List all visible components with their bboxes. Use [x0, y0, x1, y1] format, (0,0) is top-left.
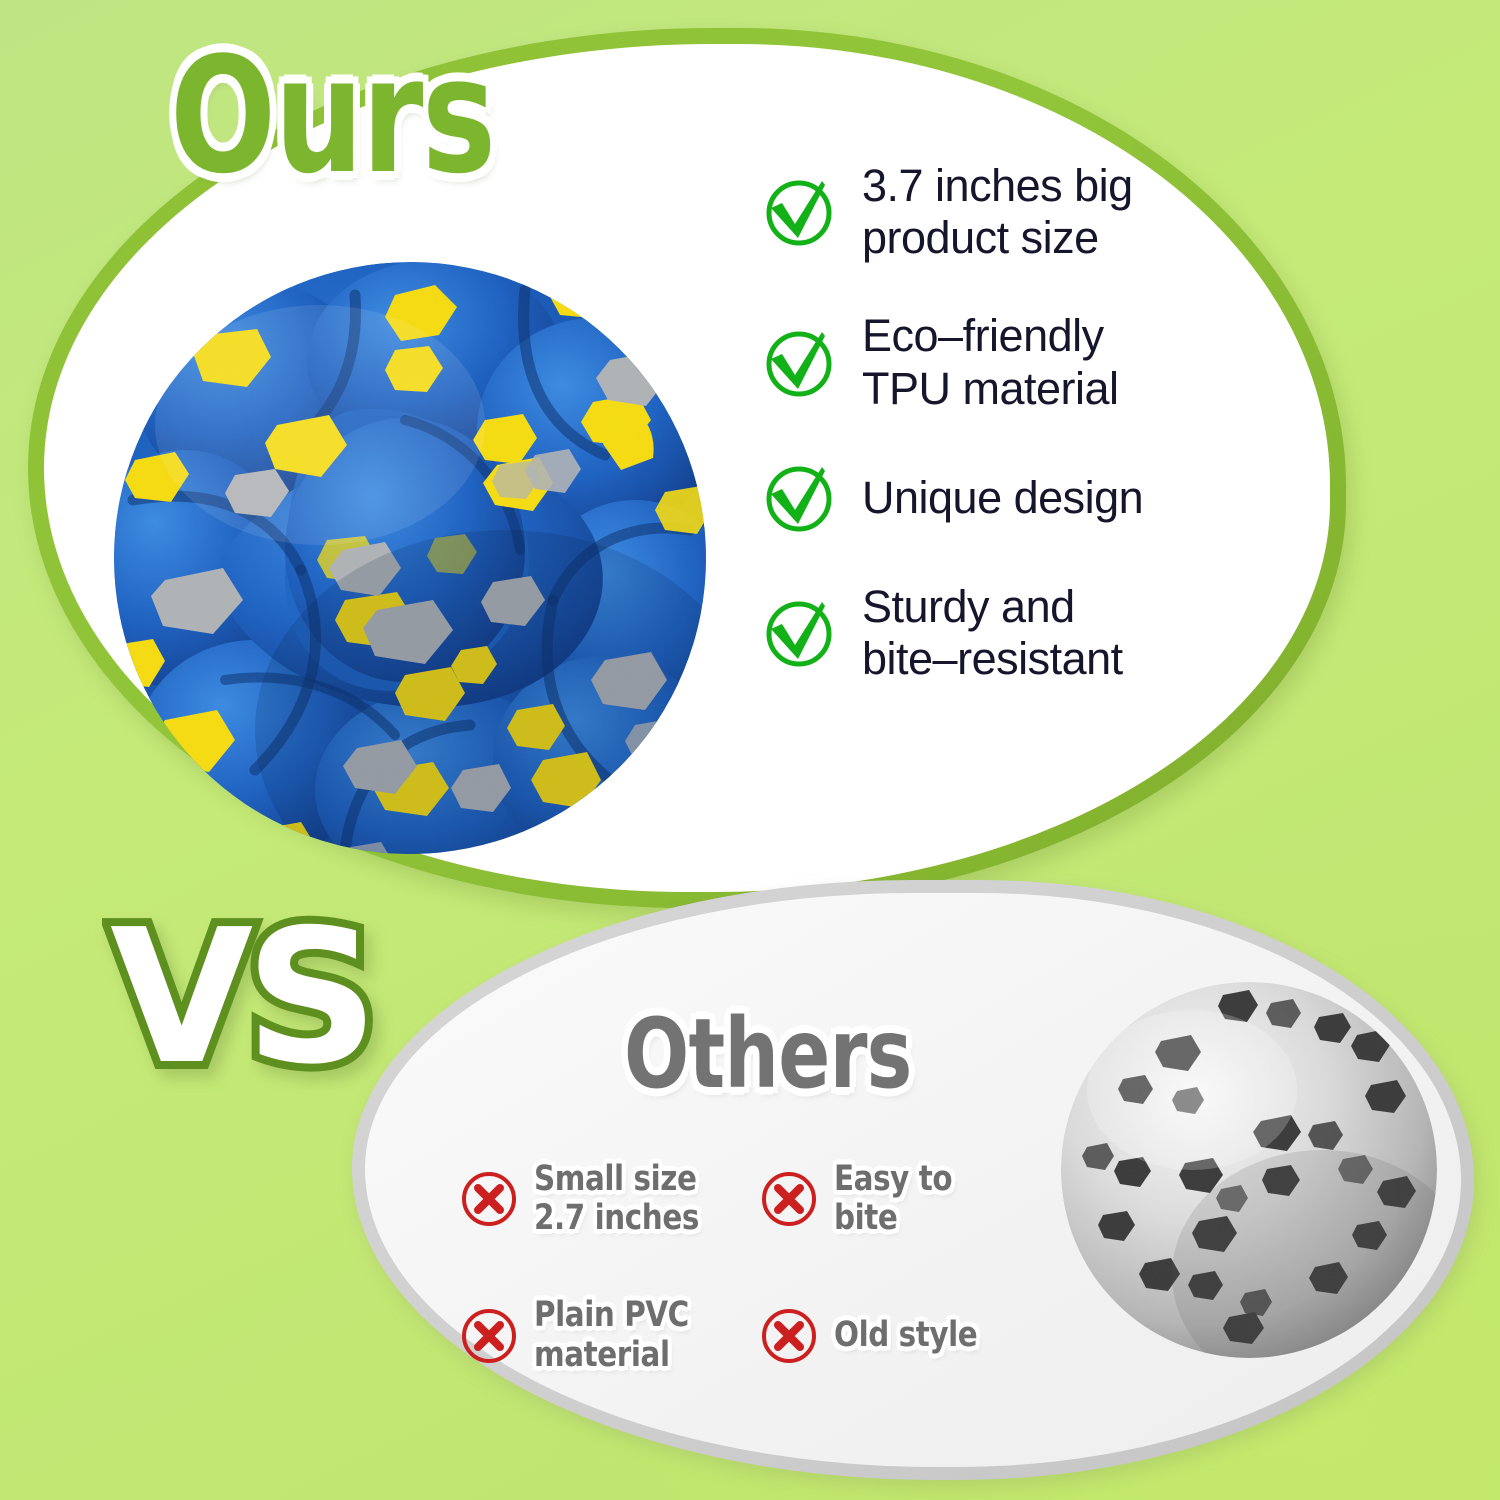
check-circle-icon	[762, 596, 836, 670]
feature-label: Eco–friendly TPU material	[862, 310, 1119, 414]
con-label: Easy to bite	[834, 1160, 1024, 1238]
comparison-infographic: Ours	[0, 0, 1500, 1500]
ours-title: Ours	[170, 36, 495, 196]
others-con-list: Small size 2.7 inches Easy to bite Plain…	[460, 1160, 1060, 1375]
vs-label: VS	[110, 905, 370, 1090]
cross-circle-icon	[760, 1307, 818, 1365]
con-label: Plain PVC material	[534, 1296, 689, 1374]
check-circle-icon	[762, 326, 836, 400]
con-item: Easy to bite	[760, 1160, 1060, 1238]
others-panel: Others Small size 2.7 inches Easy to bit…	[352, 880, 1474, 1480]
ours-feature-list: 3.7 inches big product size Eco–friendly…	[762, 160, 1232, 685]
blue-ball-image	[105, 250, 715, 865]
feature-item: Eco–friendly TPU material	[762, 310, 1232, 414]
feature-item: Sturdy and bite–resistant	[762, 581, 1232, 685]
feature-label: 3.7 inches big product size	[862, 160, 1133, 264]
cross-circle-icon	[460, 1170, 518, 1228]
feature-item: Unique design	[762, 461, 1232, 535]
check-circle-icon	[762, 461, 836, 535]
con-item: Small size 2.7 inches	[460, 1160, 760, 1238]
feature-label: Unique design	[862, 472, 1143, 524]
others-title: Others	[624, 1006, 912, 1102]
cross-circle-icon	[760, 1170, 818, 1228]
cross-circle-icon	[460, 1307, 518, 1365]
con-item: Plain PVC material	[460, 1296, 760, 1374]
check-circle-icon	[762, 175, 836, 249]
con-label: Old style	[834, 1316, 977, 1355]
con-item: Old style	[760, 1296, 1060, 1374]
con-label: Small size 2.7 inches	[534, 1160, 699, 1238]
gray-ball-image	[1057, 975, 1442, 1365]
feature-label: Sturdy and bite–resistant	[862, 581, 1123, 685]
feature-item: 3.7 inches big product size	[762, 160, 1232, 264]
